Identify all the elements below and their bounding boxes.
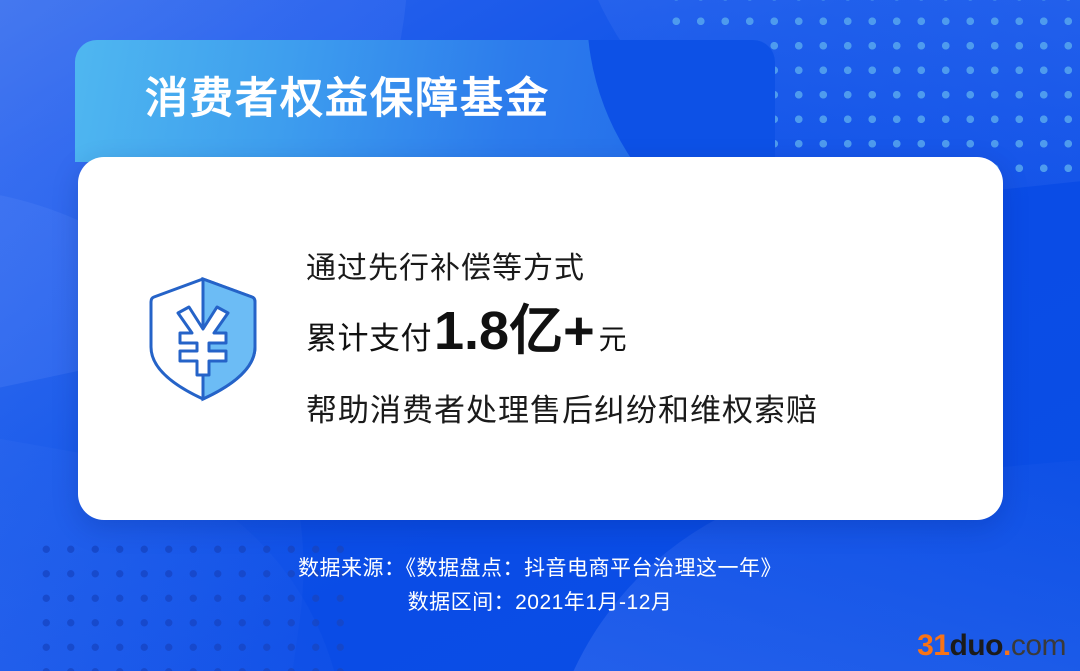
watermark-part-dot: . <box>1003 629 1011 662</box>
poster-canvas: 消费者权益保障基金 通过先行补偿等方式 累计支付 1.8亿+ 元 帮助消费者处理… <box>0 0 1080 671</box>
shield-yen-icon <box>138 271 268 406</box>
watermark-part-31: 31 <box>917 629 949 662</box>
content-card: 通过先行补偿等方式 累计支付 1.8亿+ 元 帮助消费者处理售后纠纷和维权索赔 <box>78 157 1003 520</box>
footer-source-line: 数据来源：《数据盘点：抖音电商平台治理这一年》 <box>0 552 1080 586</box>
header-banner: 消费者权益保障基金 <box>75 40 775 162</box>
card-line-2-suffix: 元 <box>597 323 628 357</box>
watermark-part-duo: duo <box>949 629 1002 662</box>
card-line-3: 帮助消费者处理售后纠纷和维权索赔 <box>306 392 1003 431</box>
footer-range-line: 数据区间：2021年1月-12月 <box>0 586 1080 620</box>
watermark-part-com: com <box>1011 629 1066 662</box>
watermark-logo: 31duo.com <box>917 631 1066 661</box>
footer: 数据来源：《数据盘点：抖音电商平台治理这一年》 数据区间：2021年1月-12月 <box>0 552 1080 620</box>
card-highlight-value: 1.8亿+ <box>432 304 597 358</box>
card-line-2-prefix: 累计支付 <box>306 320 432 357</box>
page-title: 消费者权益保障基金 <box>145 70 550 128</box>
card-line-1: 通过先行补偿等方式 <box>306 250 1003 288</box>
card-text-block: 通过先行补偿等方式 累计支付 1.8亿+ 元 帮助消费者处理售后纠纷和维权索赔 <box>306 246 1003 430</box>
card-line-2: 累计支付 1.8亿+ 元 <box>306 304 1003 358</box>
